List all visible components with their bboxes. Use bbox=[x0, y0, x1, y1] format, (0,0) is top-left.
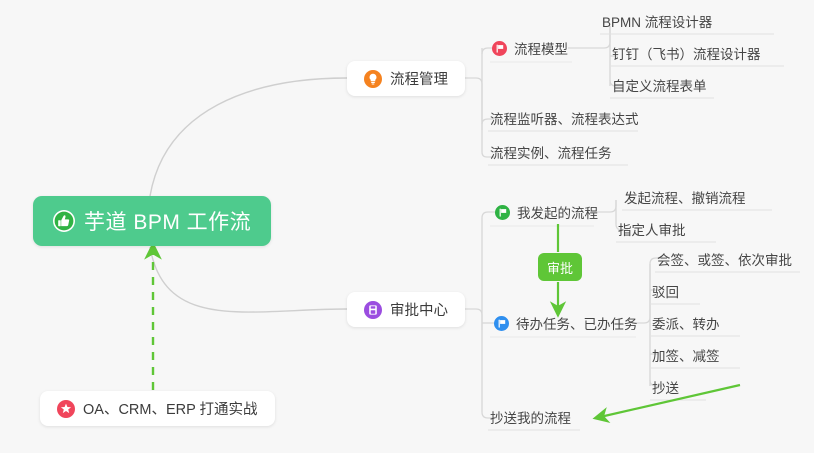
root-node-label: 芋道 BPM 工作流 bbox=[84, 206, 251, 236]
subnode-label-todo-done-task: 待办任务、已办任务 bbox=[516, 313, 638, 333]
leaf-dingtalk-feishu-designer[interactable]: 钉钉（飞书）流程设计器 bbox=[608, 40, 767, 66]
bottom-note-label: OA、CRM、ERP 打通实战 bbox=[83, 398, 258, 419]
branch-label-approval-center: 审批中心 bbox=[390, 299, 448, 320]
subnode-process-listener-expression[interactable]: 流程监听器、流程表达式 bbox=[486, 105, 645, 131]
subnode-label-my-initiated-process: 我发起的流程 bbox=[517, 202, 598, 222]
subnode-cc-to-me-process[interactable]: 抄送我的流程 bbox=[486, 404, 577, 430]
leaf-label-multi-sign-approval: 会签、或签、依次审批 bbox=[657, 249, 792, 269]
approval-badge[interactable]: 审批 bbox=[538, 253, 582, 281]
subnode-label-process-model: 流程模型 bbox=[514, 38, 568, 58]
leaf-label-reject: 驳回 bbox=[652, 281, 679, 301]
leaf-label-dingtalk-feishu-designer: 钉钉（飞书）流程设计器 bbox=[612, 43, 761, 63]
leaf-assigned-approver[interactable]: 指定人审批 bbox=[614, 216, 692, 242]
clipboard-icon bbox=[364, 301, 382, 319]
mindmap-canvas: 芋道 BPM 工作流 OA、CRM、ERP 打通实战 流程管理 bbox=[0, 0, 814, 453]
leaf-delegate-transfer[interactable]: 委派、转办 bbox=[648, 310, 726, 336]
leaf-label-add-remove-sign: 加签、减签 bbox=[652, 345, 720, 365]
leaf-multi-sign-approval[interactable]: 会签、或签、依次审批 bbox=[653, 246, 798, 272]
leaf-label-delegate-transfer: 委派、转办 bbox=[652, 313, 720, 333]
leaf-label-carbon-copy: 抄送 bbox=[652, 377, 679, 397]
subnode-process-instance-task[interactable]: 流程实例、流程任务 bbox=[486, 139, 618, 165]
lightbulb-icon bbox=[364, 70, 382, 88]
branch-label-process-management: 流程管理 bbox=[390, 68, 448, 89]
branch-node-approval-center[interactable]: 审批中心 bbox=[347, 292, 465, 327]
leaf-bpmn-designer[interactable]: BPMN 流程设计器 bbox=[598, 8, 718, 34]
leaf-start-cancel-process[interactable]: 发起流程、撤销流程 bbox=[620, 184, 752, 210]
bottom-note-node[interactable]: OA、CRM、ERP 打通实战 bbox=[40, 391, 275, 426]
leaf-carbon-copy[interactable]: 抄送 bbox=[648, 374, 685, 400]
subnode-my-initiated-process[interactable]: 我发起的流程 bbox=[493, 199, 604, 225]
branch-node-process-management[interactable]: 流程管理 bbox=[347, 61, 465, 96]
leaf-label-start-cancel-process: 发起流程、撤销流程 bbox=[624, 187, 746, 207]
star-icon bbox=[57, 400, 75, 418]
approval-badge-label: 审批 bbox=[547, 258, 573, 277]
connector-approval-center-trunk bbox=[464, 309, 494, 418]
leaf-custom-process-form[interactable]: 自定义流程表单 bbox=[608, 72, 713, 98]
flag-green-icon bbox=[495, 205, 510, 220]
flag-red-icon bbox=[492, 41, 507, 56]
subnode-label-process-instance-task: 流程实例、流程任务 bbox=[490, 142, 612, 162]
thumbs-up-icon bbox=[53, 210, 75, 232]
leaf-add-remove-sign[interactable]: 加签、减签 bbox=[648, 342, 726, 368]
leaf-label-assigned-approver: 指定人审批 bbox=[618, 219, 686, 239]
leaf-label-bpmn-designer: BPMN 流程设计器 bbox=[602, 11, 712, 31]
subnode-label-cc-to-me-process: 抄送我的流程 bbox=[490, 407, 571, 427]
leaf-label-custom-process-form: 自定义流程表单 bbox=[612, 75, 707, 95]
leaf-reject[interactable]: 驳回 bbox=[648, 278, 685, 304]
connector-root-to-process-management bbox=[150, 78, 347, 196]
subnode-label-process-listener-expression: 流程监听器、流程表达式 bbox=[490, 108, 639, 128]
root-node[interactable]: 芋道 BPM 工作流 bbox=[33, 196, 271, 246]
subnode-todo-done-task[interactable]: 待办任务、已办任务 bbox=[492, 310, 644, 336]
connector-root-to-approval-center bbox=[150, 247, 347, 312]
subnode-process-model[interactable]: 流程模型 bbox=[490, 35, 574, 61]
flag-blue-icon bbox=[494, 316, 509, 331]
